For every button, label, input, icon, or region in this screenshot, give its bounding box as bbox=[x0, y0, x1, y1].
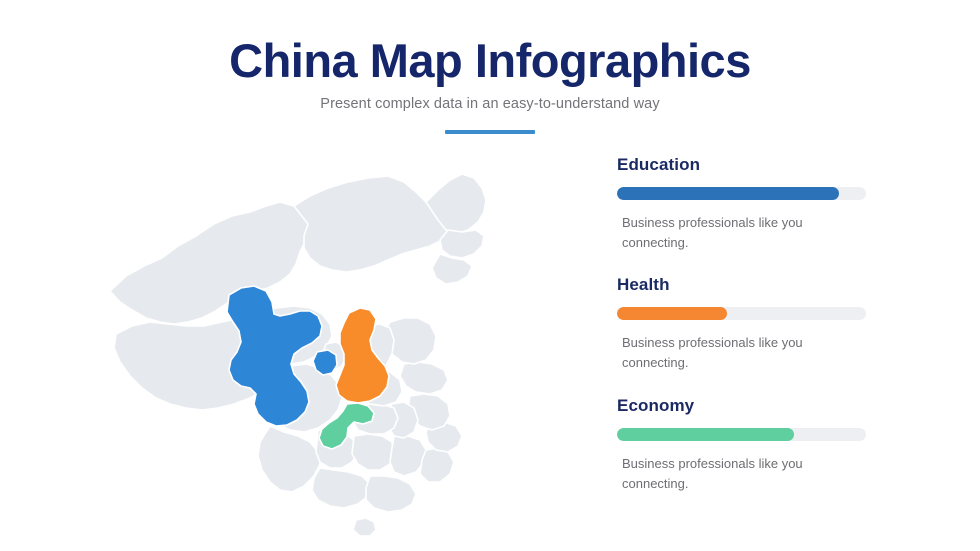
province-inner-mongolia[interactable] bbox=[294, 176, 448, 272]
china-map bbox=[104, 158, 544, 543]
stat-description-economy: Business professionals like you connecti… bbox=[622, 454, 822, 494]
stat-block-economy: Economy Business professionals like you … bbox=[617, 396, 877, 494]
province-hunan[interactable] bbox=[352, 434, 394, 470]
province-xinjiang[interactable] bbox=[110, 202, 310, 324]
stat-title-health: Health bbox=[617, 275, 877, 295]
stat-description-health: Business professionals like you connecti… bbox=[622, 333, 822, 373]
header: China Map Infographics Present complex d… bbox=[0, 0, 980, 134]
province-shandong[interactable] bbox=[400, 362, 448, 394]
province-gansu-enclave-highlight[interactable] bbox=[313, 350, 337, 375]
progress-fill-education bbox=[617, 187, 839, 200]
province-jilin[interactable] bbox=[440, 230, 484, 258]
stat-description-education: Business professionals like you connecti… bbox=[622, 213, 822, 253]
progress-track-economy[interactable] bbox=[617, 428, 866, 441]
china-map-svg bbox=[104, 158, 544, 543]
map-provinces bbox=[110, 174, 486, 536]
stat-title-education: Education bbox=[617, 155, 877, 175]
province-fujian[interactable] bbox=[420, 448, 454, 482]
stats-panel: Education Business professionals like yo… bbox=[617, 155, 877, 516]
province-guangxi[interactable] bbox=[312, 468, 370, 508]
page-title: China Map Infographics bbox=[0, 0, 980, 87]
progress-fill-health bbox=[617, 307, 727, 320]
stat-title-economy: Economy bbox=[617, 396, 877, 416]
progress-track-education[interactable] bbox=[617, 187, 866, 200]
province-guangdong[interactable] bbox=[366, 476, 416, 512]
stat-block-health: Health Business professionals like you c… bbox=[617, 275, 877, 373]
progress-track-health[interactable] bbox=[617, 307, 866, 320]
province-liaoning[interactable] bbox=[432, 254, 472, 284]
province-hainan[interactable] bbox=[353, 518, 376, 536]
province-yunnan[interactable] bbox=[258, 426, 320, 492]
stat-block-education: Education Business professionals like yo… bbox=[617, 155, 877, 253]
progress-fill-economy bbox=[617, 428, 794, 441]
page-subtitle: Present complex data in an easy-to-under… bbox=[0, 87, 980, 112]
accent-divider bbox=[445, 130, 535, 134]
